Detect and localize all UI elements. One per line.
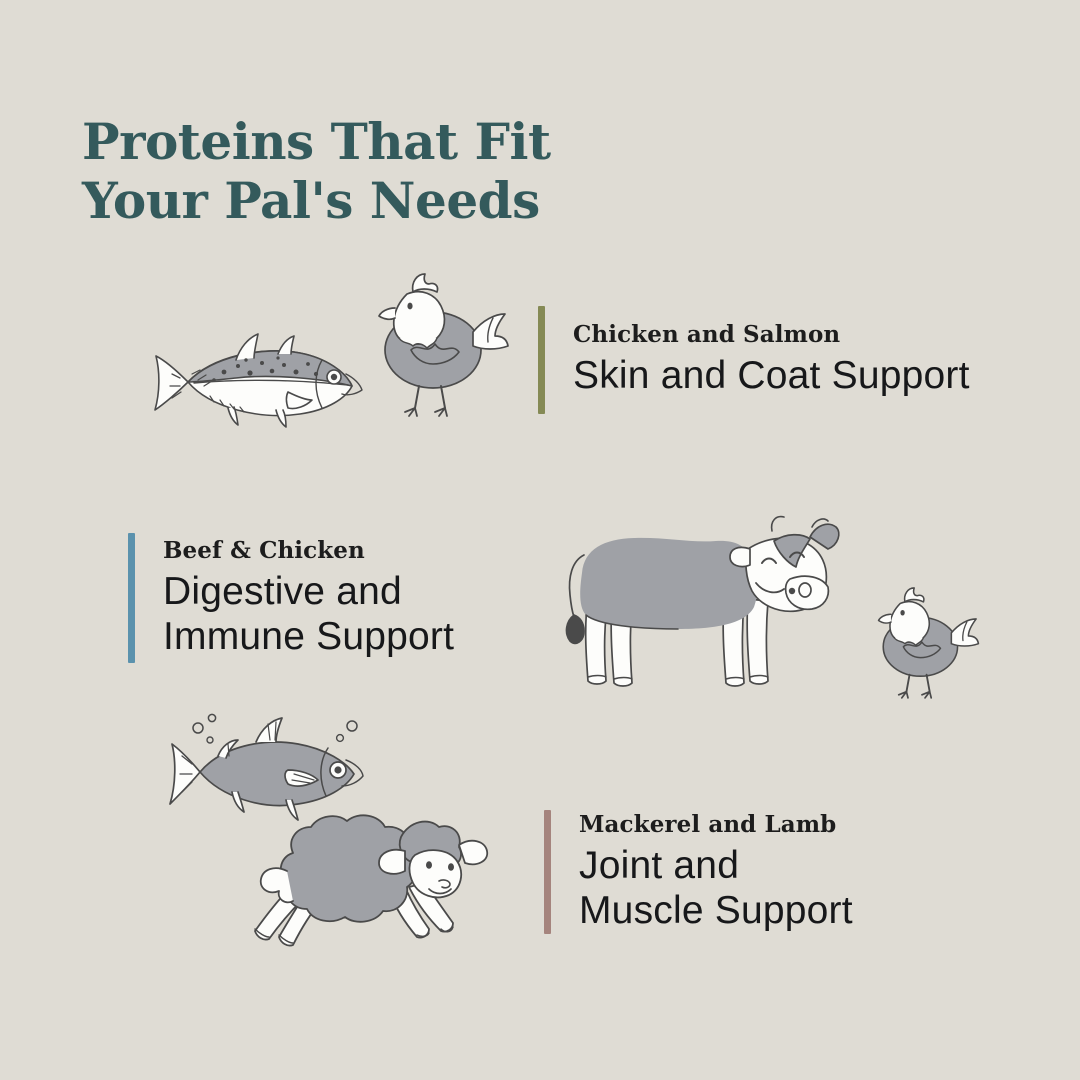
page-title: Proteins That Fit Your Pal's Needs	[82, 112, 551, 230]
feature-eyebrow: Chicken and Salmon	[573, 321, 970, 348]
feature-chicken-salmon: Chicken and Salmon Skin and Coat Support	[538, 306, 970, 414]
chicken-illustration	[355, 258, 510, 418]
sheep-illustration	[243, 795, 493, 955]
accent-bar-rose	[544, 810, 551, 934]
salmon-illustration	[150, 330, 370, 430]
feature-beef-chicken: Beef & Chicken Digestive and Immune Supp…	[128, 533, 454, 663]
accent-bar-blue	[128, 533, 135, 663]
cow-illustration	[558, 505, 858, 700]
feature-eyebrow: Beef & Chicken	[163, 537, 454, 564]
chicken-illustration	[860, 575, 980, 700]
feature-support-text: Joint and Muscle Support	[579, 844, 853, 933]
feature-mackerel-lamb: Mackerel and Lamb Joint and Muscle Suppo…	[544, 810, 853, 934]
feature-eyebrow: Mackerel and Lamb	[579, 811, 853, 838]
infographic-canvas: Proteins That Fit Your Pal's Needs	[0, 0, 1080, 1080]
accent-bar-olive	[538, 306, 545, 414]
feature-support-text: Digestive and Immune Support	[163, 570, 454, 659]
feature-support-text: Skin and Coat Support	[573, 354, 970, 398]
